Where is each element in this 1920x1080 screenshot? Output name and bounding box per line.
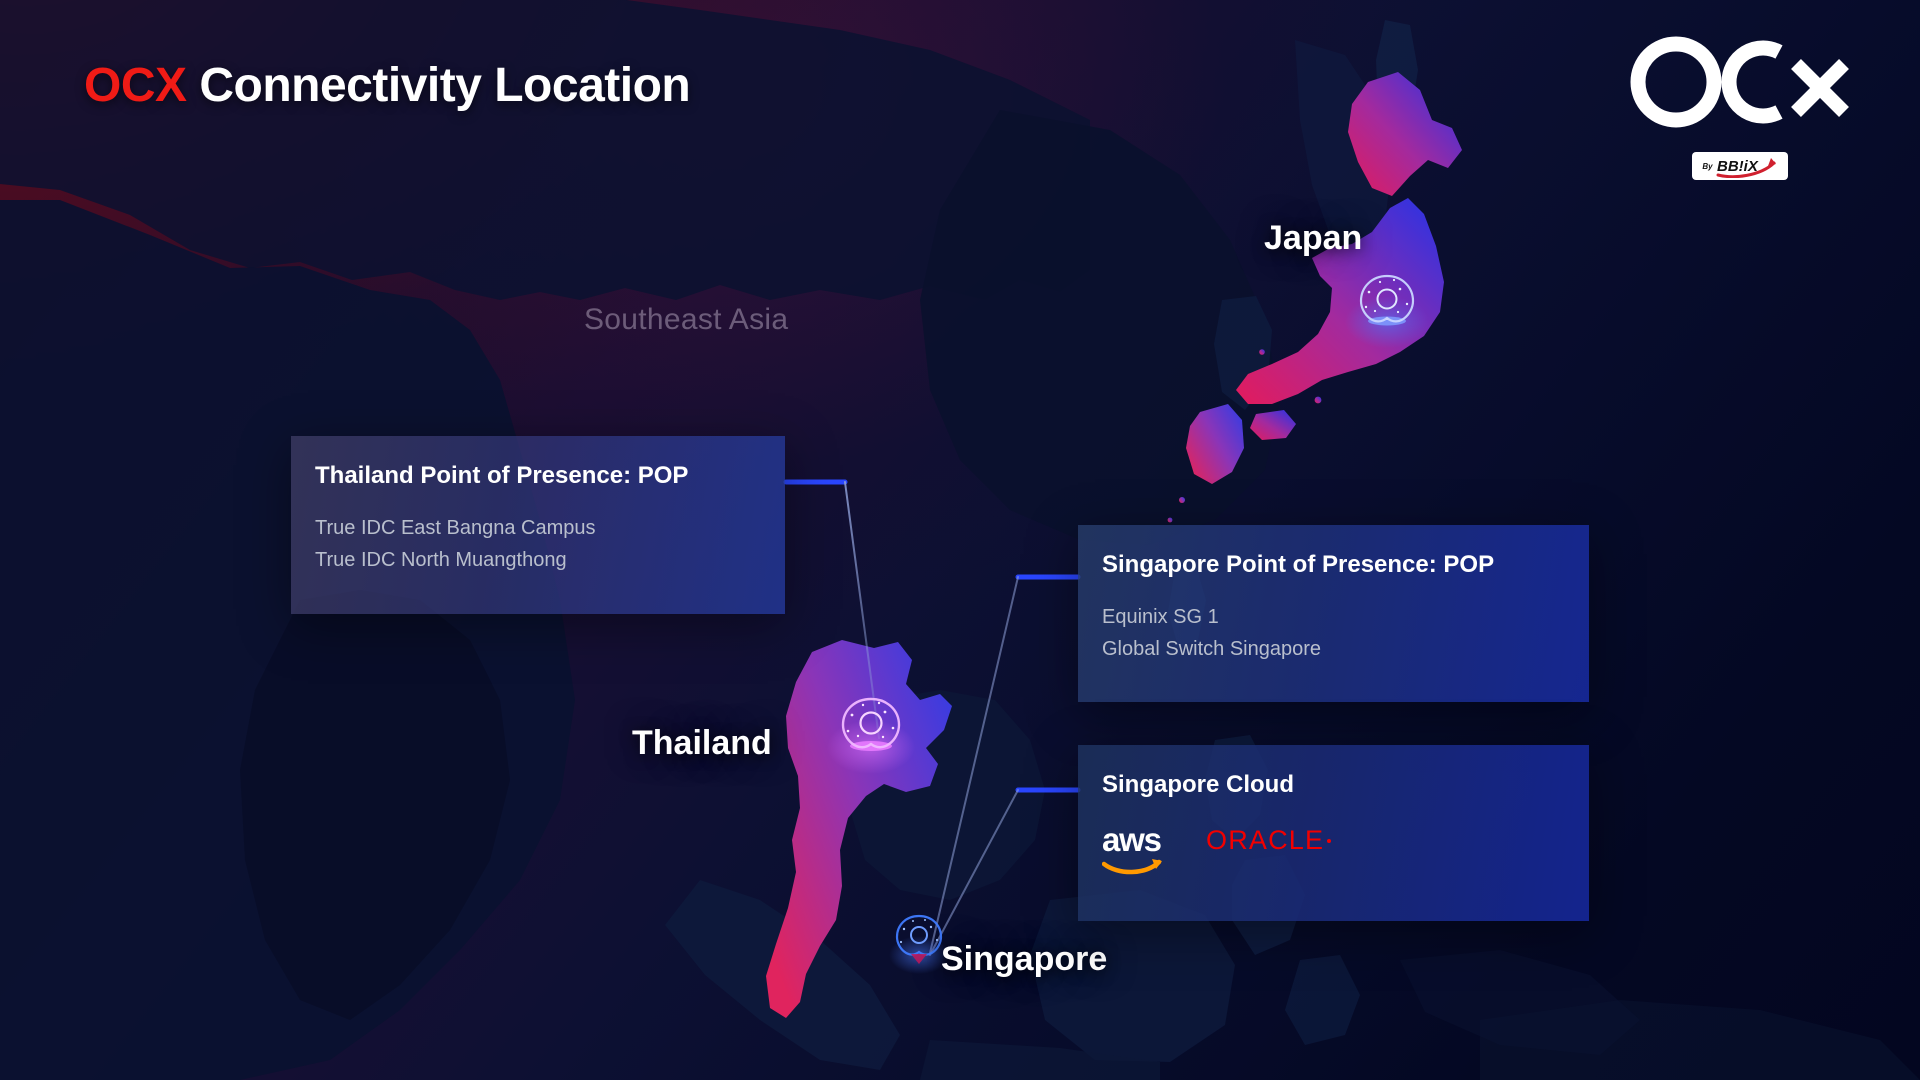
card-thailand-pop-title: Thailand Point of Presence: POP xyxy=(315,462,688,490)
svg-text:BB!iX: BB!iX xyxy=(1717,158,1759,175)
country-label-japan: Japan xyxy=(1264,219,1362,258)
page-title: OCX Connectivity Location xyxy=(84,58,690,113)
aws-swoosh-icon xyxy=(1102,858,1164,878)
landmass-base xyxy=(0,0,1920,1080)
world-map xyxy=(0,0,1920,1080)
page-title-rest: Connectivity Location xyxy=(187,59,691,112)
card-singapore-cloud[interactable]: Singapore Cloud aws ORACLE xyxy=(1078,745,1589,921)
card-singapore-pop-line-2: Global Switch Singapore xyxy=(1102,633,1321,665)
region-label-southeast-asia: Southeast Asia xyxy=(584,303,788,337)
aws-logo-text: aws xyxy=(1102,823,1164,856)
card-singapore-pop-line-1: Equinix SG 1 xyxy=(1102,601,1321,633)
card-singapore-cloud-title: Singapore Cloud xyxy=(1102,771,1294,799)
card-thailand-pop-lines: True IDC East Bangna Campus True IDC Nor… xyxy=(315,512,596,576)
ocx-logo[interactable]: By BB!iX xyxy=(1628,30,1858,145)
card-singapore-pop-lines: Equinix SG 1 Global Switch Singapore xyxy=(1102,601,1321,665)
aws-logo: aws xyxy=(1102,823,1164,878)
card-thailand-pop-line-1: True IDC East Bangna Campus xyxy=(315,512,596,544)
oracle-trademark-dot xyxy=(1327,839,1331,843)
bbix-badge-by: By xyxy=(1702,162,1712,171)
oracle-logo-text: ORACLE xyxy=(1206,825,1324,855)
bbix-badge: By BB!iX xyxy=(1692,152,1788,180)
country-label-singapore: Singapore xyxy=(941,940,1107,979)
card-singapore-pop-title: Singapore Point of Presence: POP xyxy=(1102,551,1494,579)
slide-canvas: OCX Connectivity Location By BB!iX South… xyxy=(0,0,1920,1080)
oracle-logo: ORACLE xyxy=(1206,827,1331,854)
bbix-logo-icon: BB!iX xyxy=(1716,154,1778,178)
country-label-thailand: Thailand xyxy=(632,724,772,763)
card-singapore-pop[interactable]: Singapore Point of Presence: POP Equinix… xyxy=(1078,525,1589,702)
page-title-accent: OCX xyxy=(84,59,187,112)
cloud-provider-logos: aws ORACLE xyxy=(1102,823,1331,878)
ocx-wordmark-icon xyxy=(1628,30,1858,140)
card-thailand-pop[interactable]: Thailand Point of Presence: POP True IDC… xyxy=(291,436,785,614)
card-thailand-pop-line-2: True IDC North Muangthong xyxy=(315,544,596,576)
